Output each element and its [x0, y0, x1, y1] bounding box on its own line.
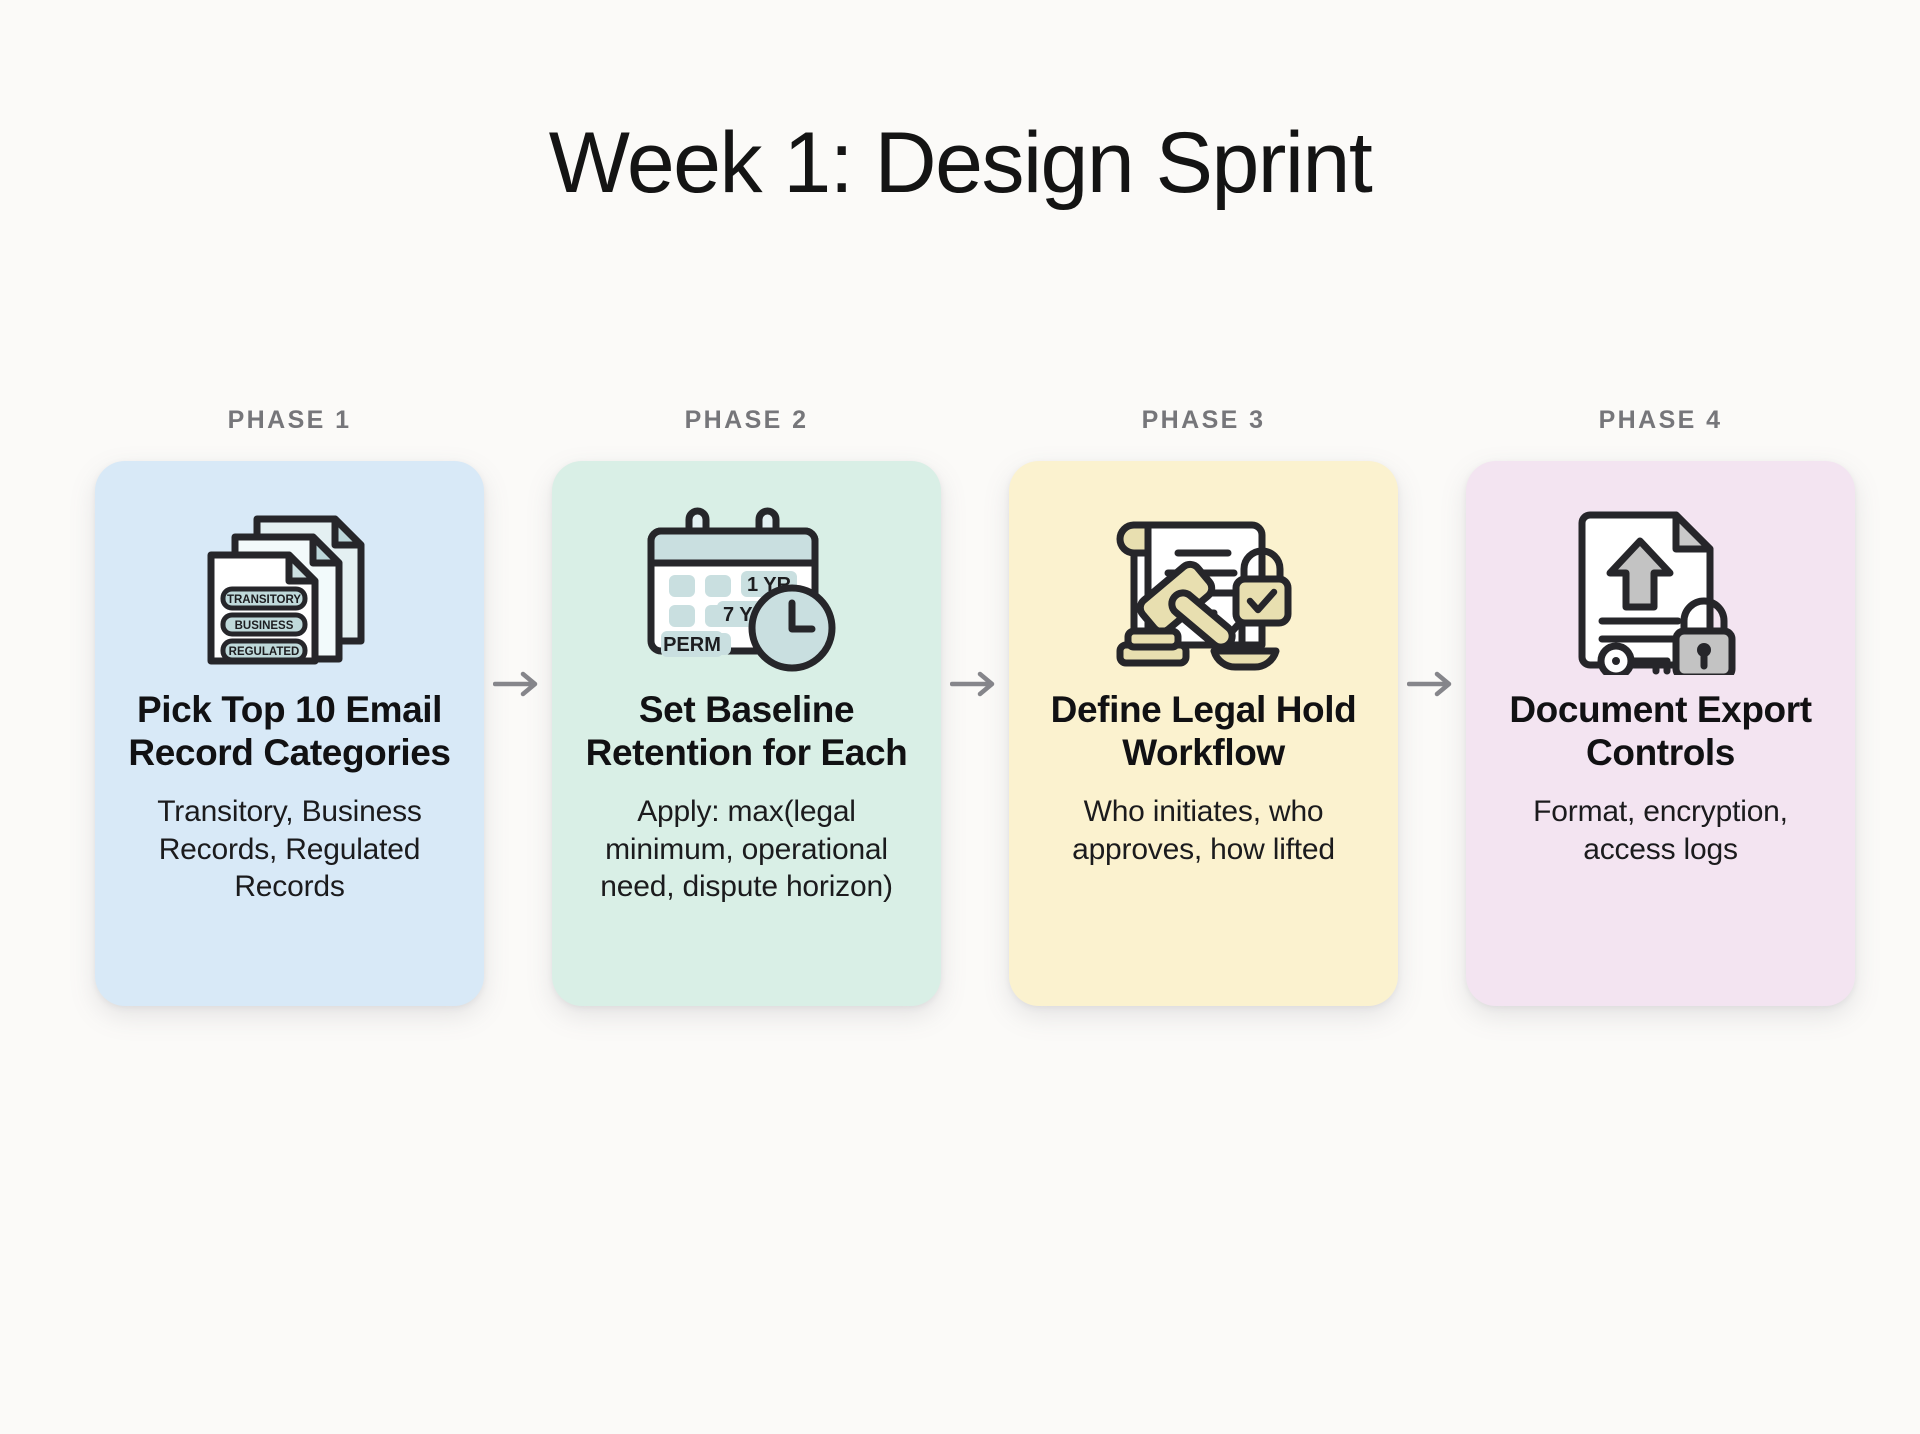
icon-pill-label-3: REGULATED: [228, 646, 299, 658]
phase-card-title-3: Define Legal Hold Workflow: [1039, 689, 1368, 775]
phase-card-desc-1: Transitory, Business Records, Regulated …: [125, 793, 454, 906]
calendar-clock-icon: 1 YR 7 YR PERM: [647, 505, 847, 675]
phase-card-title-2: Set Baseline Retention for Each: [582, 689, 911, 775]
icon-chip-label-3: PERM: [663, 634, 721, 656]
phase-card-4[interactable]: Document Export Controls Format, encrypt…: [1466, 461, 1855, 1006]
phase-label-1: PHASE 1: [228, 406, 352, 435]
infographic-page: Week 1: Design Sprint PHASE 1: [0, 0, 1920, 1434]
page-title: Week 1: Design Sprint: [0, 118, 1920, 208]
arrow-1: [484, 670, 552, 698]
document-export-lock-icon: [1566, 505, 1756, 675]
stacked-documents-icon: TRANSITORY BUSINESS REGULATED: [195, 505, 385, 675]
phase-card-2[interactable]: 1 YR 7 YR PERM Set Baseline Retention fo…: [552, 461, 941, 1006]
phase-card-3[interactable]: Define Legal Hold Workflow Who initiates…: [1009, 461, 1398, 1006]
arrow-2: [941, 670, 1009, 698]
phase-card-desc-3: Who initiates, who approves, how lifted: [1039, 793, 1368, 869]
phase-label-2: PHASE 2: [685, 406, 809, 435]
phase-column-2: PHASE 2: [552, 406, 941, 1006]
phase-column-4: PHASE 4: [1466, 406, 1855, 1006]
icon-pill-label-1: TRANSITORY: [226, 594, 300, 606]
arrow-3: [1398, 670, 1466, 698]
gavel-scroll-lock-icon: [1104, 505, 1304, 675]
phase-card-desc-2: Apply: max(legal minimum, operational ne…: [582, 793, 911, 906]
phase-label-3: PHASE 3: [1142, 406, 1266, 435]
phase-flow: PHASE 1: [95, 406, 1855, 1006]
phase-column-1: PHASE 1: [95, 406, 484, 1006]
icon-pill-label-2: BUSINESS: [234, 620, 293, 632]
phase-card-title-1: Pick Top 10 Email Record Categories: [125, 689, 454, 775]
phase-card-1[interactable]: TRANSITORY BUSINESS REGULATED Pick Top 1…: [95, 461, 484, 1006]
phase-card-desc-4: Format, encryption, access logs: [1496, 793, 1825, 869]
phase-label-4: PHASE 4: [1599, 406, 1723, 435]
phase-column-3: PHASE 3: [1009, 406, 1398, 1006]
phase-card-title-4: Document Export Controls: [1496, 689, 1825, 775]
